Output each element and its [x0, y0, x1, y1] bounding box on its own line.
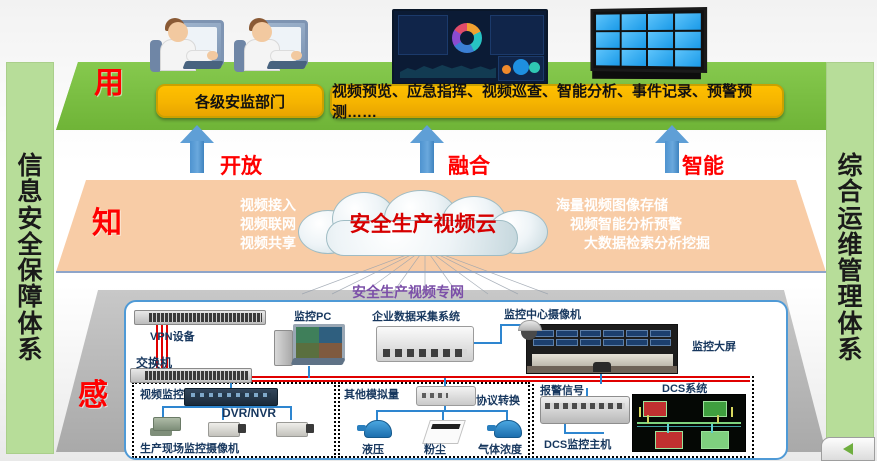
dcs-schematic-image — [632, 394, 746, 452]
data-collector-icon — [376, 326, 474, 362]
analytics-dashboard-image — [392, 9, 548, 85]
cloud-capability-list-right: 海量视频图像存储视频智能分析预警大数据检索分析挖掘 — [556, 196, 776, 253]
users-at-computers-image — [150, 6, 310, 86]
data-collector-label: 企业数据采集系统 — [372, 308, 460, 324]
safety-department-label: 各级安监部门 — [195, 91, 285, 112]
alarm-signal-title: 报警信号 — [540, 382, 584, 398]
dvr-nvr-label: DVR/NVR — [222, 406, 276, 420]
arrow-label-converge: 融合 — [448, 150, 490, 180]
center-camera-label: 监控中心摄像机 — [504, 306, 581, 322]
pillar-char: 体 — [837, 311, 862, 337]
site-camera-caption: 生产现场监控摄像机 — [140, 440, 239, 456]
dvr-nvr-icon — [184, 388, 278, 406]
play-triangle-icon — [843, 443, 853, 455]
box-camera-icon-1 — [208, 422, 240, 437]
pillar-char: 合 — [837, 179, 862, 205]
protocol-converter-icon — [416, 386, 476, 406]
cloud-title: 安全生产视频云 — [292, 208, 554, 238]
dcs-host-icon — [540, 396, 630, 424]
pillar-char: 运 — [837, 206, 862, 232]
perception-layer-panel: VPN设备 交换机 监控PC 企业数据采集系统 监 — [124, 300, 788, 460]
hydraulic-sensor-icon — [364, 420, 392, 438]
pillar-char: 息 — [17, 179, 42, 205]
pillar-char: 维 — [837, 232, 862, 258]
analog-signal-title: 其他模拟量 — [344, 386, 399, 402]
pillar-information-security: 信息安全保障体系 — [6, 62, 54, 454]
pillar-char: 系 — [837, 337, 862, 363]
sensor-label-gas: 气体浓度 — [478, 441, 522, 457]
pillar-operations-management: 综合运维管理体系 — [826, 62, 874, 454]
arrow-label-intelligent: 智能 — [682, 150, 724, 180]
vpn-device-icon — [134, 310, 266, 325]
functions-label: 视频预览、应急指挥、视频巡查、智能分析、事件记录、预警预测…… — [332, 80, 782, 122]
dcs-system-label: DCS系统 — [662, 380, 707, 396]
layer-label-platform: 知 — [92, 198, 122, 242]
protocol-converter-label: 协议转换 — [476, 392, 520, 408]
box-camera-icon-2 — [276, 422, 308, 437]
corner-control-widget[interactable] — [821, 437, 875, 461]
layer-label-perception: 感 — [78, 370, 108, 414]
pillar-char: 保 — [17, 258, 42, 284]
pillar-char: 理 — [837, 284, 862, 310]
pillar-char: 管 — [837, 258, 862, 284]
pillar-char: 系 — [17, 337, 42, 363]
pillar-char: 障 — [17, 284, 42, 310]
safety-department-box[interactable]: 各级安监部门 — [156, 84, 324, 118]
layer-label-application: 用 — [94, 58, 124, 102]
big-screen-label: 监控大屏 — [692, 338, 736, 354]
dcs-host-label: DCS监控主机 — [544, 436, 611, 452]
control-room-image — [526, 324, 678, 374]
gas-sensor-icon — [494, 420, 522, 438]
vpn-device-label: VPN设备 — [150, 328, 195, 344]
pillar-char: 全 — [17, 232, 42, 258]
sensor-label-hydraulic: 液压 — [362, 441, 384, 457]
pillar-char: 安 — [17, 206, 42, 232]
arrow-converge-icon — [410, 125, 444, 173]
video-wall-image — [588, 8, 710, 82]
cloud-capability-list-left: 视频接入视频联网视频共享 — [146, 196, 296, 253]
pillar-char: 综 — [837, 153, 862, 179]
dome-camera-icon — [518, 320, 542, 340]
private-network-label: 安全生产视频专网 — [352, 282, 464, 302]
video-cloud-shape: 安全生产视频云 — [292, 190, 554, 256]
pillar-char: 信 — [17, 153, 42, 179]
pillar-char: 体 — [17, 311, 42, 337]
sensor-label-dust: 粉尘 — [424, 441, 446, 457]
arrow-open-icon — [180, 125, 214, 173]
functions-box[interactable]: 视频预览、应急指挥、视频巡查、智能分析、事件记录、预警预测…… — [330, 84, 784, 118]
monitor-pc-label: 监控PC — [294, 308, 331, 324]
monitor-pc-icon — [274, 324, 346, 368]
arrow-label-open: 开放 — [220, 150, 262, 180]
ptz-camera-icon — [150, 428, 172, 436]
diagram-canvas: 各级安监部门 视频预览、应急指挥、视频巡查、智能分析、事件记录、预警预测…… 用… — [0, 0, 877, 461]
switch-label: 交换机 — [136, 354, 172, 371]
video-surveillance-title: 视频监控 — [140, 386, 184, 402]
